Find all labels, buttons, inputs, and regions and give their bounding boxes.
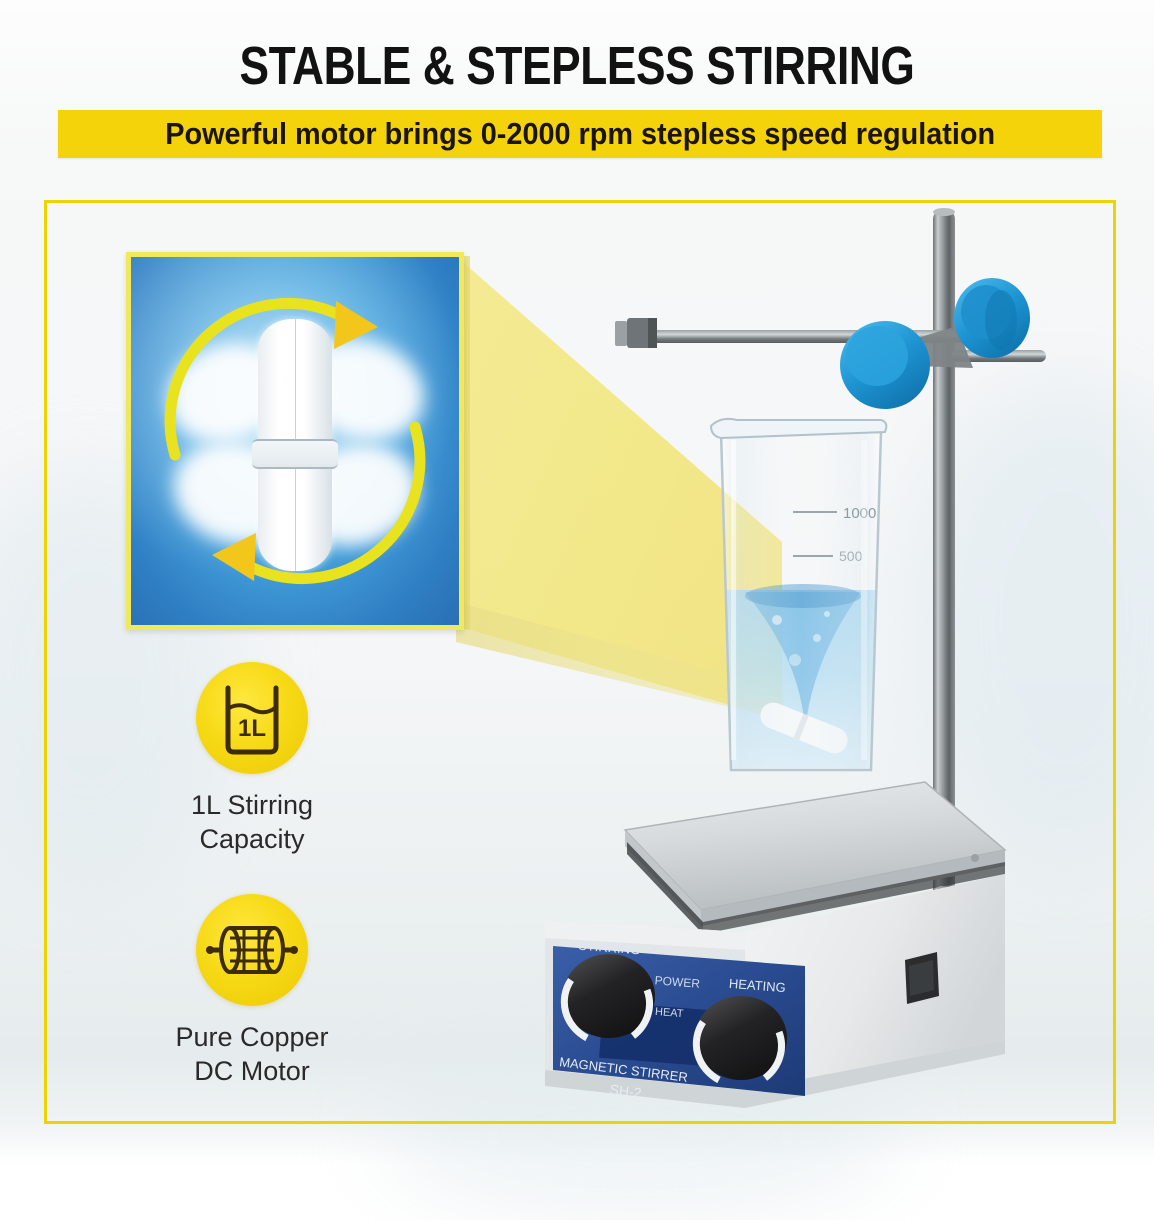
- feature-capacity-line2: Capacity: [112, 822, 392, 856]
- clamp-knob[interactable]: [954, 278, 1030, 358]
- indicator-heat-label: HEAT: [655, 1006, 685, 1020]
- feature-capacity-caption: 1L Stirring Capacity: [112, 788, 392, 856]
- feature-capacity: 1L 1L Stirring Capacity: [112, 662, 392, 856]
- page-title: STABLE & STEPLESS STIRRING: [104, 36, 1050, 96]
- clamp-knob[interactable]: [840, 321, 930, 409]
- subtitle-banner: Powerful motor brings 0-2000 rpm steples…: [58, 110, 1102, 158]
- subtitle-text: Powerful motor brings 0-2000 rpm steples…: [165, 116, 995, 152]
- svg-text:1L: 1L: [238, 715, 266, 742]
- stir-bar-rotation-inset: [126, 252, 464, 630]
- feature-motor-caption: Pure Copper DC Motor: [112, 1020, 392, 1088]
- graduation-label-500: 500: [839, 548, 863, 564]
- feature-motor-line2: DC Motor: [112, 1054, 392, 1088]
- heating-knob[interactable]: [695, 996, 787, 1080]
- rod-end-cap: [615, 318, 657, 348]
- feature-capacity-line1: 1L Stirring: [112, 788, 392, 822]
- magnetic-stirrer-hotplate: 1000 500: [505, 190, 1085, 1120]
- panel-model-label: SH-2: [609, 1081, 643, 1101]
- feature-motor: Pure Copper DC Motor: [112, 894, 392, 1088]
- graduation-label-1000: 1000: [843, 505, 876, 522]
- glass-beaker: 1000 500: [711, 419, 886, 770]
- beaker-icon: 1L: [196, 662, 308, 774]
- dc-motor-icon-glyph: [196, 894, 308, 1006]
- stirring-knob[interactable]: [563, 954, 655, 1038]
- power-switch[interactable]: [905, 952, 939, 1004]
- product-infographic: STABLE & STEPLESS STIRRING Powerful moto…: [0, 0, 1154, 1200]
- feature-motor-line1: Pure Copper: [112, 1020, 392, 1054]
- beaker-icon-glyph: 1L: [196, 662, 308, 774]
- rotation-arrows-icon: [131, 257, 459, 625]
- dc-motor-icon: [196, 894, 308, 1006]
